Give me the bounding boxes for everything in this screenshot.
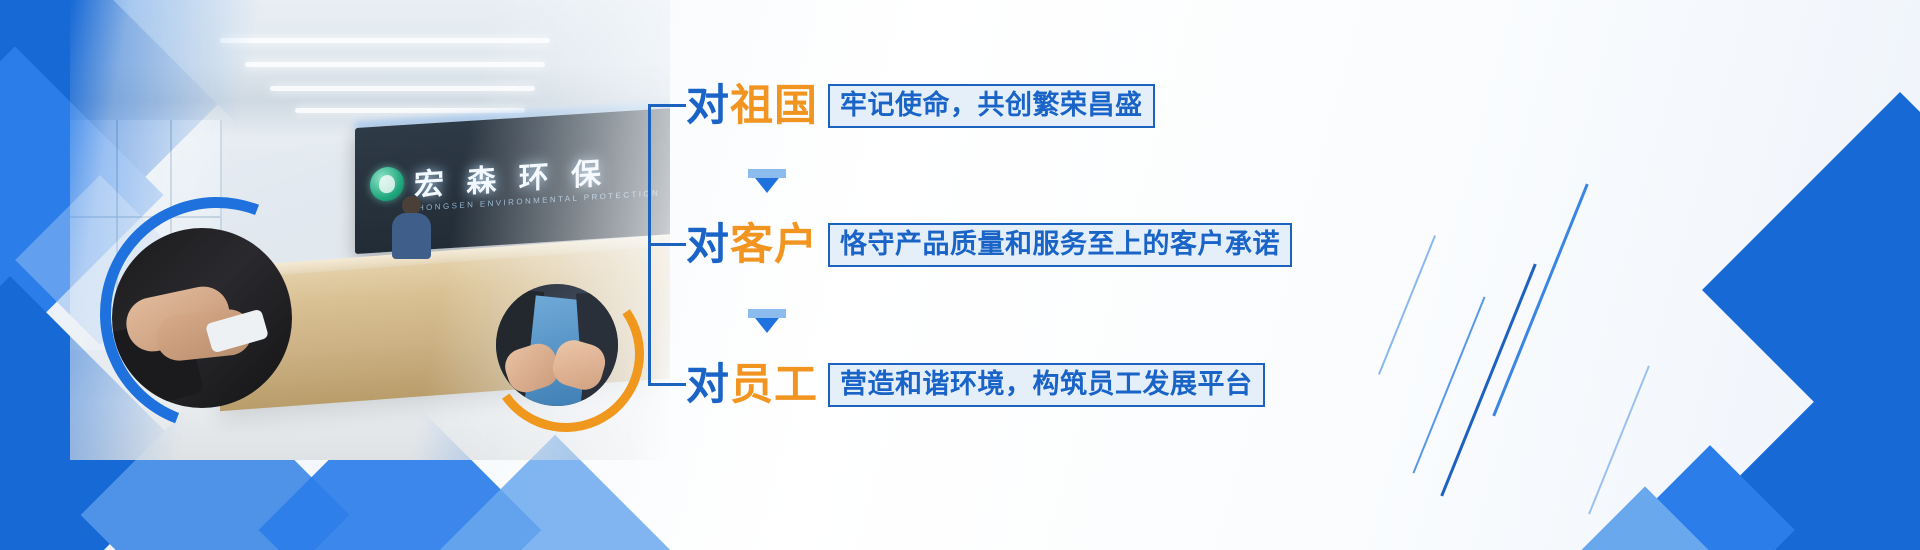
ceiling-light-strip — [295, 108, 525, 113]
slogan-prefix: 对 — [686, 361, 730, 409]
slogan-heading-country: 对祖国 — [686, 85, 818, 128]
decor-diagonal-line — [1440, 264, 1536, 497]
receptionist-figure — [390, 196, 432, 258]
slogan-statement-text: 牢记使命，共创繁荣昌盛 — [840, 90, 1143, 120]
slogan-prefix: 对 — [686, 221, 730, 269]
decor-diagonal-line — [1378, 235, 1436, 375]
slogan-statement-box-customer: 恪守产品质量和服务至上的客户承诺 — [828, 223, 1292, 267]
slogan-heading-employee: 对员工 — [686, 364, 818, 407]
ceiling-light-strip — [220, 38, 550, 43]
slogan-arrow-2 — [648, 290, 786, 352]
company-culture-banner: 宏 森 环 保 HONGSEN ENVIRONMENTAL PROTECTION — [0, 0, 1920, 550]
triangle-down-icon — [748, 169, 786, 193]
slogan-statement-box-employee: 营造和谐环境，构筑员工发展平台 — [828, 363, 1265, 407]
decor-diagonal-line — [1492, 184, 1588, 417]
slogan-arrow-1 — [648, 150, 786, 212]
slogan-prefix: 对 — [686, 82, 730, 130]
slogan-statement-text: 营造和谐环境，构筑员工发展平台 — [840, 369, 1253, 399]
slogan-row-employee: 对员工 营造和谐环境，构筑员工发展平台 — [648, 357, 1265, 413]
slogan-statement-box-country: 牢记使命，共创繁荣昌盛 — [828, 84, 1155, 128]
receptionist-body — [392, 213, 431, 259]
slogan-subject: 祖国 — [730, 82, 818, 130]
slogan-heading-customer: 对客户 — [686, 224, 818, 267]
slogan-row-customer: 对客户 恪守产品质量和服务至上的客户承诺 — [648, 217, 1292, 273]
triangle-down-icon — [748, 309, 786, 333]
slogan-subject: 客户 — [730, 221, 818, 269]
slogan-statement-text: 恪守产品质量和服务至上的客户承诺 — [840, 229, 1280, 259]
ceiling-light-strip — [270, 86, 535, 91]
ceiling-light-strip — [245, 62, 545, 67]
slogan-subject: 员工 — [730, 361, 818, 409]
decor-diagonal-line — [1412, 297, 1485, 474]
slogan-row-country: 对祖国 牢记使命，共创繁荣昌盛 — [648, 78, 1155, 134]
